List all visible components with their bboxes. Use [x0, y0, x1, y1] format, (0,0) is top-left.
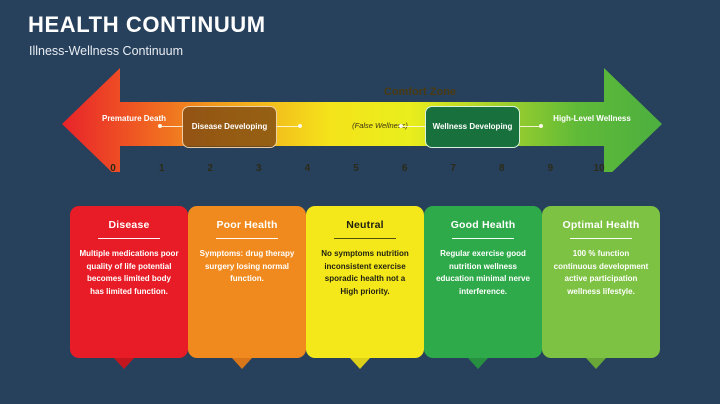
connector-dot-1: [158, 124, 162, 128]
scale-tick-10: 10: [586, 163, 612, 174]
connector-line-2: [275, 126, 300, 127]
scale-tick-3: 3: [246, 163, 272, 174]
stage-card-divider: [216, 238, 278, 239]
stage-card-divider: [570, 238, 632, 239]
scale-tick-4: 4: [294, 163, 320, 174]
scale-tick-5: 5: [343, 163, 369, 174]
stage-card-divider: [452, 238, 514, 239]
comfort-zone-label: Comfort Zone: [320, 86, 520, 98]
stage-card-poor-health[interactable]: Poor HealthSymptoms: drug therapy surger…: [188, 206, 306, 358]
stage-card-title: Good Health: [433, 219, 533, 231]
connector-line-3: [403, 126, 427, 127]
stage-card-body: 100 % function continuous development ac…: [551, 248, 651, 298]
scale-tick-7: 7: [440, 163, 466, 174]
high-level-wellness-label: High-Level Wellness: [552, 113, 632, 125]
continuum-arrow: Comfort Zone (False Wellness) Premature …: [62, 62, 662, 172]
stage-card-title: Neutral: [315, 219, 415, 231]
stage-card-optimal-health[interactable]: Optimal Health100 % function continuous …: [542, 206, 660, 358]
stage-card-tail: [232, 358, 252, 369]
stage-card-tail: [468, 358, 488, 369]
page-subtitle: Illness-Wellness Continuum: [29, 44, 183, 58]
stage-card-body: Multiple medications poor quality of lif…: [79, 248, 179, 298]
stage-card-disease[interactable]: DiseaseMultiple medications poor quality…: [70, 206, 188, 358]
stage-card-divider: [98, 238, 160, 239]
stage-card-neutral[interactable]: NeutralNo symptoms nutrition inconsisten…: [306, 206, 424, 358]
scale-tick-1: 1: [149, 163, 175, 174]
connector-dot-2: [298, 124, 302, 128]
stage-card-good-health[interactable]: Good HealthRegular exercise good nutriti…: [424, 206, 542, 358]
stage-card-title: Disease: [79, 219, 179, 231]
scale-tick-0: 0: [100, 163, 126, 174]
scale-tick-2: 2: [197, 163, 223, 174]
continuum-scale: 012345678910: [62, 163, 662, 181]
connector-line-4: [518, 126, 541, 127]
stage-card-title: Optimal Health: [551, 219, 651, 231]
stage-card-divider: [334, 238, 396, 239]
page-title: HEALTH CONTINUUM: [28, 12, 266, 38]
premature-death-label: Premature Death: [94, 113, 174, 125]
scale-tick-8: 8: [489, 163, 515, 174]
node-disease-developing[interactable]: Disease Developing: [182, 106, 277, 148]
connector-dot-4: [539, 124, 543, 128]
scale-tick-6: 6: [392, 163, 418, 174]
stage-card-body: Symptoms: drug therapy surgery losing no…: [197, 248, 297, 286]
connector-dot-3: [399, 124, 403, 128]
stage-card-tail: [586, 358, 606, 369]
infographic-canvas: HEALTH CONTINUUM Illness-Wellness Contin…: [0, 0, 720, 404]
stage-card-row: DiseaseMultiple medications poor quality…: [0, 206, 720, 381]
node-wellness-developing[interactable]: Wellness Developing: [425, 106, 520, 148]
connector-line-1: [162, 126, 184, 127]
stage-card-body: No symptoms nutrition inconsistent exerc…: [315, 248, 415, 298]
stage-card-body: Regular exercise good nutrition wellness…: [433, 248, 533, 298]
stage-card-tail: [114, 358, 134, 369]
scale-tick-9: 9: [537, 163, 563, 174]
stage-card-title: Poor Health: [197, 219, 297, 231]
stage-card-tail: [350, 358, 370, 369]
